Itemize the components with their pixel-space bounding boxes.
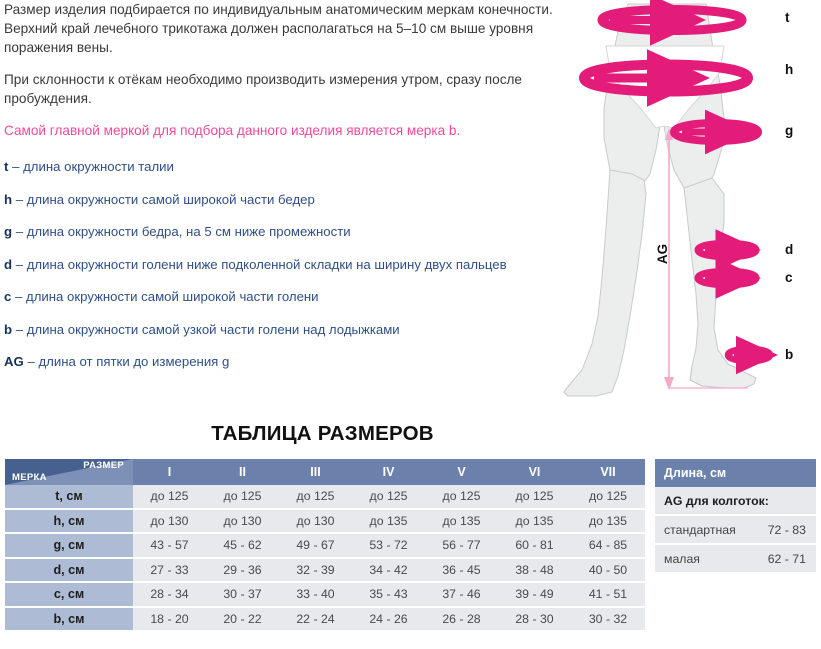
row-label-h: h, см	[5, 509, 133, 534]
size-column-6: VI	[498, 459, 571, 485]
length-row-value-small: 62 - 71	[736, 544, 817, 572]
cell-d-2: 29 - 36	[206, 558, 279, 583]
table-corner-cell: РАЗМЕР МЕРКА	[5, 459, 133, 485]
cell-d-4: 34 - 42	[352, 558, 425, 583]
instructions-column: Размер изделия подбирается по индивидуал…	[0, 0, 600, 386]
cell-c-1: 28 - 34	[133, 582, 206, 607]
length-row-value-standard: 72 - 83	[736, 515, 817, 544]
corner-size-label: РАЗМЕР	[83, 460, 124, 471]
diagram-label-t: t	[785, 10, 790, 25]
cell-t-6: до 125	[498, 485, 571, 509]
cell-t-3: до 125	[279, 485, 352, 509]
measurement-legend-list: t – длина окружности талии h – длина окр…	[0, 158, 600, 370]
legend-text-h: – длина окружности самой широкой части б…	[16, 192, 315, 207]
ag-vertical-label: AG	[655, 244, 670, 264]
legend-item-t: t – длина окружности талии	[0, 158, 600, 175]
legend-key-b: b	[4, 322, 12, 337]
legend-key-d: d	[4, 257, 12, 272]
length-row-name-standard: стандартная	[655, 515, 736, 544]
table-row: d, см 27 - 33 29 - 36 32 - 39 34 - 42 36…	[5, 558, 645, 583]
legend-item-c: c – длина окружности самой широкой части…	[0, 288, 600, 305]
intro-paragraph-1: Размер изделия подбирается по индивидуал…	[0, 0, 600, 57]
row-label-b: b, см	[5, 607, 133, 631]
size-table-title: ТАБЛИЦА РАЗМЕРОВ	[0, 422, 645, 446]
cell-g-7: 64 - 85	[571, 533, 645, 558]
legend-key-g: g	[4, 224, 12, 239]
table-row: h, см до 130 до 130 до 130 до 135 до 135…	[5, 509, 645, 534]
measure-ring-h	[584, 65, 748, 92]
measure-ring-t	[602, 10, 742, 31]
cell-g-2: 45 - 62	[206, 533, 279, 558]
cell-h-3: до 130	[279, 509, 352, 534]
cell-h-4: до 135	[352, 509, 425, 534]
cell-g-3: 49 - 67	[279, 533, 352, 558]
length-section-title: AG для колготок:	[655, 487, 816, 515]
cell-d-7: 40 - 50	[571, 558, 645, 583]
row-label-t: t, см	[5, 485, 133, 509]
cell-d-6: 38 - 48	[498, 558, 571, 583]
cell-c-5: 37 - 46	[425, 582, 498, 607]
cell-b-1: 18 - 20	[133, 607, 206, 631]
list-item: малая 62 - 71	[655, 544, 816, 572]
size-column-7: VII	[571, 459, 645, 485]
legend-text-t: – длина окружности талии	[12, 159, 174, 174]
cell-t-5: до 125	[425, 485, 498, 509]
length-table: Длина, см AG для колготок: стандартная 7…	[655, 459, 816, 572]
cell-g-6: 60 - 81	[498, 533, 571, 558]
legend-item-h: h – длина окружности самой широкой части…	[0, 191, 600, 208]
diagram-label-b: b	[785, 347, 793, 362]
cell-b-6: 28 - 30	[498, 607, 571, 631]
size-column-4: IV	[352, 459, 425, 485]
row-label-d: d, см	[5, 558, 133, 583]
size-chart-page: Размер изделия подбирается по индивидуал…	[0, 0, 821, 649]
cell-t-2: до 125	[206, 485, 279, 509]
legend-item-ag: AG – длина от пятки до измерения g	[0, 353, 600, 370]
legs-diagram-svg: AG	[556, 0, 821, 410]
length-table-header: Длина, см	[655, 459, 816, 487]
cell-c-6: 39 - 49	[498, 582, 571, 607]
legend-text-b: – длина окружности самой узкой части гол…	[16, 322, 400, 337]
row-label-c: c, см	[5, 582, 133, 607]
cell-h-1: до 130	[133, 509, 206, 534]
cell-b-5: 26 - 28	[425, 607, 498, 631]
diagram-label-h: h	[785, 62, 793, 77]
legend-text-g: – длина окружности бедра, на 5 см ниже п…	[16, 224, 351, 239]
diagram-label-g: g	[785, 123, 793, 138]
measure-ring-g	[674, 123, 758, 141]
legend-key-ag: AG	[4, 354, 24, 369]
cell-d-1: 27 - 33	[133, 558, 206, 583]
cell-c-2: 30 - 37	[206, 582, 279, 607]
corner-measure-label: МЕРКА	[12, 472, 47, 483]
cell-b-4: 24 - 26	[352, 607, 425, 631]
cell-d-5: 36 - 45	[425, 558, 498, 583]
diagram-label-c: c	[785, 270, 793, 285]
cell-b-2: 20 - 22	[206, 607, 279, 631]
length-table-header-row: Длина, см	[655, 459, 816, 487]
legend-key-c: c	[4, 289, 11, 304]
cell-c-3: 33 - 40	[279, 582, 352, 607]
cell-t-7: до 125	[571, 485, 645, 509]
legend-item-d: d – длина окружности голени ниже подколе…	[0, 256, 600, 273]
cell-d-3: 32 - 39	[279, 558, 352, 583]
legend-key-h: h	[4, 192, 12, 207]
size-column-2: II	[206, 459, 279, 485]
legend-text-c: – длина окружности самой широкой части г…	[15, 289, 319, 304]
diagram-label-d: d	[785, 242, 793, 257]
row-label-g: g, см	[5, 533, 133, 558]
intro-paragraph-2: При склонности к отёкам необходимо произ…	[0, 70, 600, 108]
cell-g-4: 53 - 72	[352, 533, 425, 558]
legend-text-d: – длина окружности голени ниже подколенн…	[16, 257, 507, 272]
length-row-name-small: малая	[655, 544, 736, 572]
size-column-5: V	[425, 459, 498, 485]
table-row: g, см 43 - 57 45 - 62 49 - 67 53 - 72 56…	[5, 533, 645, 558]
table-row: c, см 28 - 34 30 - 37 33 - 40 35 - 43 37…	[5, 582, 645, 607]
legend-item-b: b – длина окружности самой узкой части г…	[0, 321, 600, 338]
measure-ring-d	[698, 243, 756, 257]
legend-key-t: t	[4, 159, 8, 174]
cell-b-7: 30 - 32	[571, 607, 645, 631]
cell-c-7: 41 - 51	[571, 582, 645, 607]
cell-h-6: до 135	[498, 509, 571, 534]
size-column-1: I	[133, 459, 206, 485]
legend-text-ag: – длина от пятки до измерения g	[27, 354, 229, 369]
cell-t-1: до 125	[133, 485, 206, 509]
list-item: стандартная 72 - 83	[655, 515, 816, 544]
measure-ring-b	[728, 349, 770, 361]
list-item: AG для колготок:	[655, 487, 816, 515]
cell-h-7: до 135	[571, 509, 645, 534]
highlight-note: Самой главной меркой для подбора данного…	[0, 121, 600, 140]
cell-h-2: до 130	[206, 509, 279, 534]
measure-ring-c	[698, 271, 756, 285]
size-table-header-row: РАЗМЕР МЕРКА I II III IV V VI VII	[5, 459, 645, 485]
size-column-3: III	[279, 459, 352, 485]
cell-t-4: до 125	[352, 485, 425, 509]
size-table: РАЗМЕР МЕРКА I II III IV V VI VII t, см …	[5, 459, 645, 630]
cell-g-1: 43 - 57	[133, 533, 206, 558]
cell-h-5: до 135	[425, 509, 498, 534]
cell-g-5: 56 - 77	[425, 533, 498, 558]
legend-item-g: g – длина окружности бедра, на 5 см ниже…	[0, 223, 600, 240]
cell-c-4: 35 - 43	[352, 582, 425, 607]
table-row: b, см 18 - 20 20 - 22 22 - 24 24 - 26 26…	[5, 607, 645, 631]
legs-measurement-diagram: AG	[556, 0, 821, 410]
cell-b-3: 22 - 24	[279, 607, 352, 631]
table-row: t, см до 125 до 125 до 125 до 125 до 125…	[5, 485, 645, 509]
